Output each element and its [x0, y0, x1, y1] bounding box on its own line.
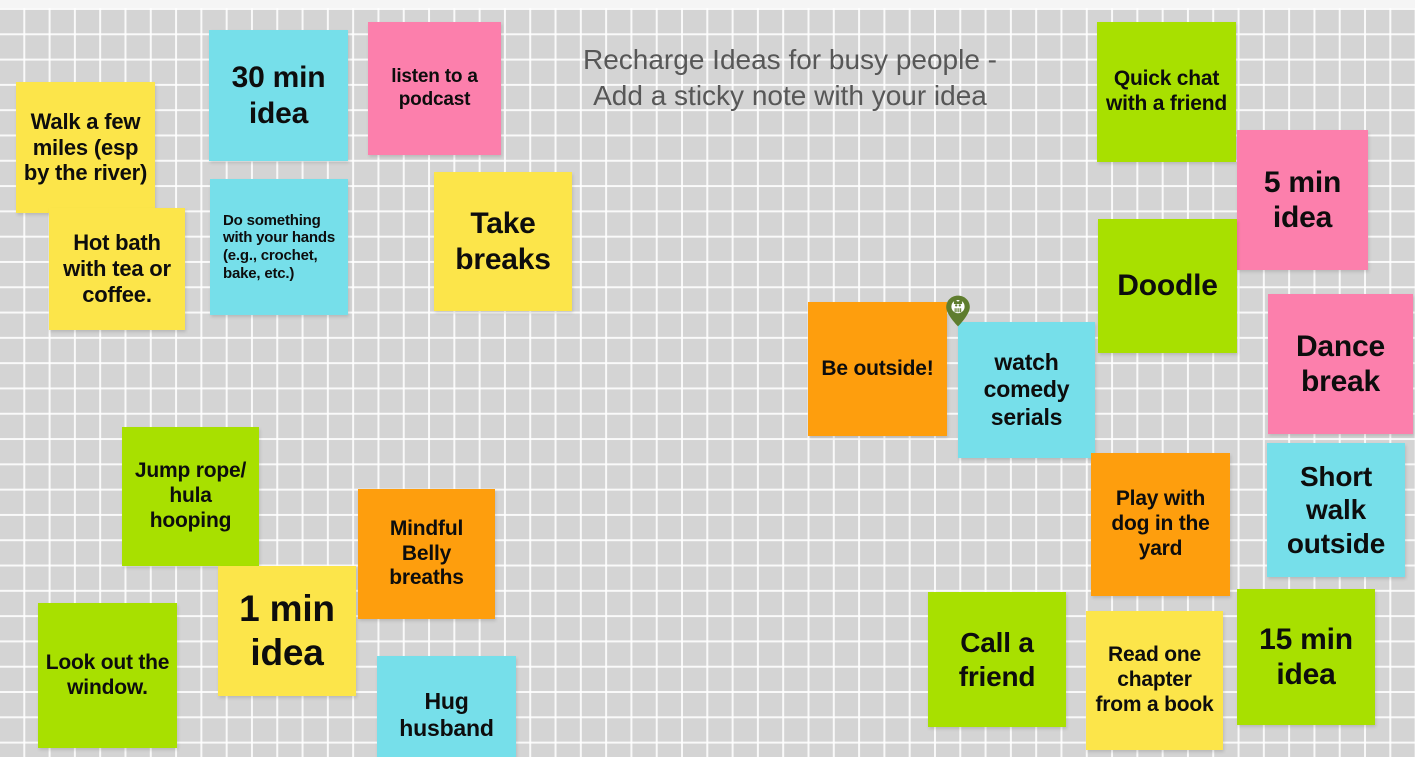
sticky-note-text: Do something with your hands (e.g., croc…	[223, 212, 340, 283]
sticky-note-dance-break[interactable]: Dance break	[1268, 294, 1413, 434]
sticky-note-listen-to-podcast[interactable]: listen to a podcast	[368, 22, 501, 155]
sticky-note-text: Jump rope/ hula hooping	[128, 459, 253, 533]
sticky-note-walk-a-few-miles[interactable]: Walk a few miles (esp by the river)	[16, 82, 155, 213]
board-title: Recharge Ideas for busy people - Add a s…	[530, 42, 1050, 113]
sticky-note-do-something-hands[interactable]: Do something with your hands (e.g., croc…	[210, 179, 348, 315]
sticky-note-text: Hot bath with tea or coffee.	[55, 230, 179, 308]
sticky-note-jump-rope-hula[interactable]: Jump rope/ hula hooping	[122, 427, 259, 566]
sticky-note-take-breaks[interactable]: Take breaks	[434, 172, 572, 311]
sticky-note-text: Hug husband	[383, 688, 510, 742]
top-edge-strip	[0, 0, 1415, 8]
sticky-note-text: Play with dog in the yard	[1097, 487, 1224, 561]
sticky-note-mindful-belly-breaths[interactable]: Mindful Belly breaths	[358, 489, 495, 619]
sticky-note-text: watch comedy serials	[964, 349, 1089, 430]
sticky-note-look-out-window[interactable]: Look out the window.	[38, 603, 177, 748]
sticky-note-text: Call a friend	[934, 626, 1060, 692]
sticky-note-text: Dance break	[1274, 329, 1407, 400]
sticky-note-watch-comedy-serials[interactable]: watch comedy serials	[958, 322, 1095, 458]
sticky-note-short-walk-outside[interactable]: Short walk outside	[1267, 443, 1405, 577]
sticky-note-text: 30 min idea	[215, 60, 342, 131]
sticky-note-be-outside[interactable]: Be outside!	[808, 302, 947, 436]
sticky-note-call-a-friend[interactable]: Call a friend	[928, 592, 1066, 727]
sticky-note-text: Walk a few miles (esp by the river)	[22, 109, 149, 187]
sticky-note-read-one-chapter[interactable]: Read one chapter from a book	[1086, 611, 1223, 750]
sticky-note-text: Be outside!	[814, 357, 941, 382]
sticky-note-play-with-dog[interactable]: Play with dog in the yard	[1091, 453, 1230, 596]
sticky-note-board[interactable]: Recharge Ideas for busy people - Add a s…	[0, 0, 1415, 757]
sticky-note-text: 5 min idea	[1243, 165, 1362, 236]
sticky-note-text: Mindful Belly breaths	[364, 517, 489, 591]
sticky-note-thirty-min-idea[interactable]: 30 min idea	[209, 30, 348, 161]
sticky-note-text: listen to a podcast	[374, 66, 495, 111]
sticky-note-text: Doodle	[1104, 268, 1231, 303]
sticky-note-one-min-idea[interactable]: 1 min idea	[218, 566, 356, 696]
sticky-note-doodle[interactable]: Doodle	[1098, 219, 1237, 353]
sticky-note-text: 15 min idea	[1243, 622, 1369, 693]
sticky-note-hot-bath[interactable]: Hot bath with tea or coffee.	[49, 208, 185, 330]
sticky-note-quick-chat-friend[interactable]: Quick chat with a friend	[1097, 22, 1236, 162]
sticky-note-fifteen-min-idea[interactable]: 15 min idea	[1237, 589, 1375, 725]
sticky-note-text: 1 min idea	[224, 587, 350, 674]
sticky-note-text: Look out the window.	[44, 651, 171, 701]
sticky-note-text: Take breaks	[440, 206, 566, 277]
sticky-note-hug-husband[interactable]: Hug husband	[377, 656, 516, 757]
sticky-note-text: Short walk outside	[1273, 460, 1399, 559]
sticky-note-text: Read one chapter from a book	[1092, 643, 1217, 717]
sticky-note-five-min-idea[interactable]: 5 min idea	[1237, 130, 1368, 270]
sticky-note-text: Quick chat with a friend	[1103, 67, 1230, 117]
